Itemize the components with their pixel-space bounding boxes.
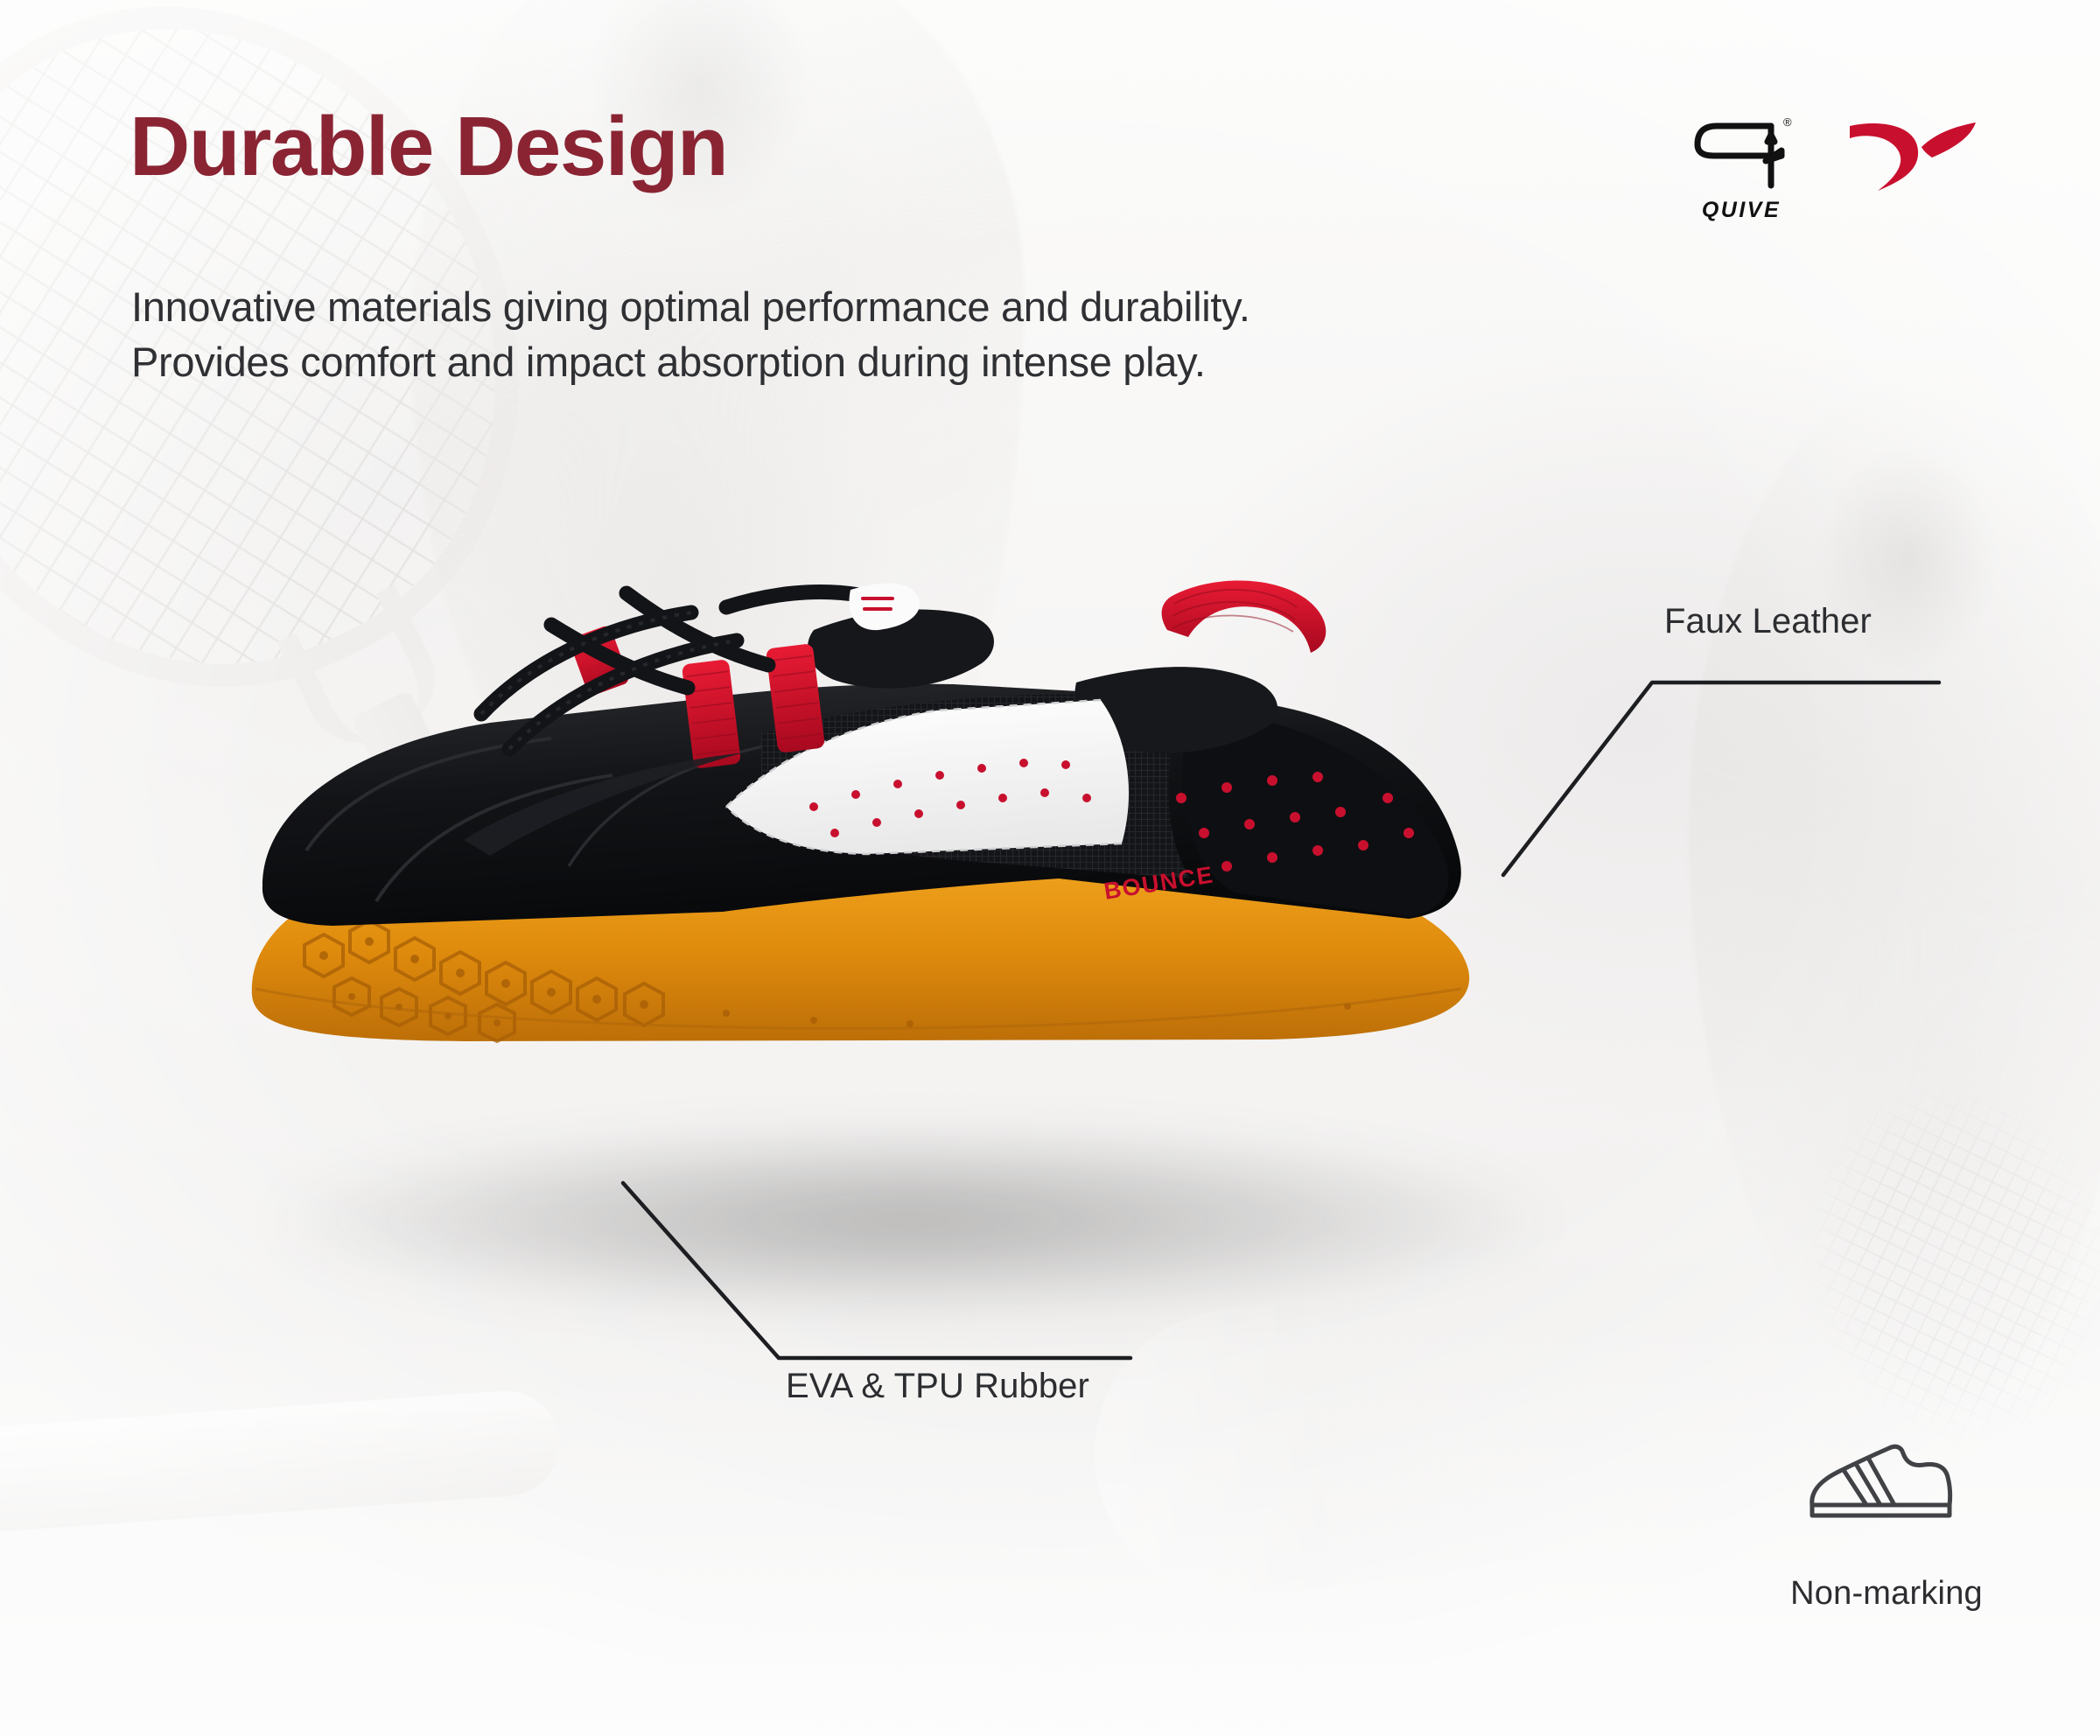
non-marking-badge: Non-marking — [1755, 1442, 2018, 1613]
poster-canvas: Durable Design Innovative materials givi… — [0, 0, 2100, 1736]
four-glyph-icon: ® — [1690, 115, 1792, 196]
brand-logo-group: ® QUIVE — [1690, 115, 1977, 223]
callout-label-faux-leather: Faux Leather — [1664, 602, 1872, 641]
registered-mark: ® — [1783, 115, 1792, 129]
heel-pull-tab — [1162, 581, 1326, 654]
non-marking-label: Non-marking — [1755, 1575, 2018, 1613]
non-marking-shoe-icon — [1805, 1442, 1968, 1535]
quive-wordmark: QUIVE — [1690, 198, 1792, 223]
page-subtitle: Innovative materials giving optimal perf… — [131, 280, 1250, 390]
quive-logo: ® QUIVE — [1690, 115, 1792, 223]
page-title: Durable Design — [129, 105, 727, 189]
callout-label-eva-tpu-rubber: EVA & TPU Rubber — [786, 1367, 1089, 1406]
red-swoosh-icon — [1848, 121, 1977, 192]
shoe-product-image — [201, 577, 1566, 1225]
